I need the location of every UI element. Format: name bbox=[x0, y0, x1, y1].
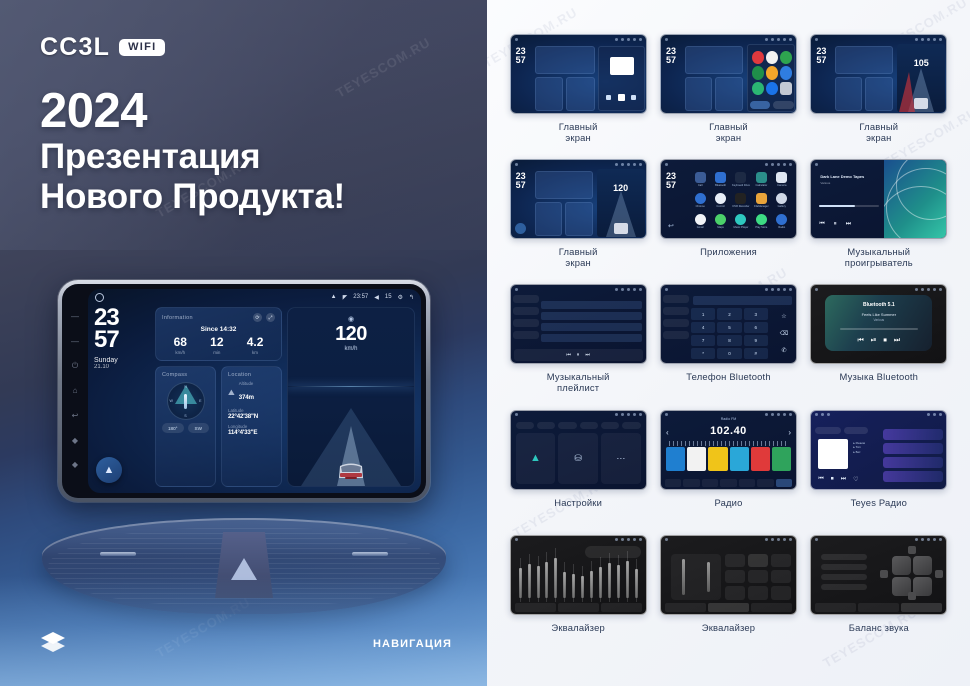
album-art bbox=[818, 439, 848, 469]
dial-input[interactable] bbox=[693, 296, 792, 305]
compass-card[interactable]: Compass N E S W bbox=[155, 366, 216, 487]
prev-icon[interactable]: ⏮ bbox=[857, 337, 863, 345]
status-bar: ▲ ◤ 23:57 ◀ 15 ⚙ ↰ bbox=[88, 289, 421, 305]
radio-frequency: 102.40 bbox=[661, 425, 796, 437]
eq-preset[interactable] bbox=[771, 554, 791, 567]
car-icon: ⛁ bbox=[574, 453, 582, 464]
head-unit-inner: — — ⏻ ⌂ ↩ ◆ ◆ ▲ ◤ 23:57 ◀ bbox=[62, 284, 426, 498]
car-3d-model bbox=[334, 452, 368, 482]
stat-unit: km bbox=[247, 350, 264, 355]
gallery-caption: Баланс звука bbox=[849, 622, 909, 633]
call-icon[interactable]: ✆ bbox=[781, 347, 786, 354]
compass-direction: SW bbox=[188, 423, 210, 433]
dashboard-vent bbox=[42, 518, 446, 614]
compass-n: N bbox=[184, 385, 187, 389]
status-time: 23:57 bbox=[353, 294, 368, 300]
screenshot-gallery-panel: TEYESCOM.RU TEYESCOM.RU TEYESCOM.RU TEYE… bbox=[487, 0, 970, 686]
mini-status-bar bbox=[511, 160, 646, 168]
app-item[interactable]: DVR Recorder bbox=[732, 193, 750, 212]
speed-widget[interactable]: ◉ 120 km/h bbox=[287, 307, 415, 487]
pause-icon[interactable]: ⏸ bbox=[577, 352, 580, 358]
latitude-label: Latitude bbox=[228, 408, 275, 413]
balance-up-button[interactable] bbox=[908, 546, 916, 554]
gallery-item[interactable]: Radio FM 102.40 ‹ › bbox=[653, 410, 803, 535]
mini-speed-value: 120 bbox=[597, 183, 645, 193]
preset[interactable] bbox=[730, 447, 749, 471]
gallery-caption: Главныйэкран bbox=[709, 121, 748, 143]
gallery-caption: Teyes Радио bbox=[851, 497, 907, 508]
app-item[interactable]: Gallery bbox=[773, 193, 791, 212]
star-icon[interactable]: ☆ bbox=[781, 313, 786, 320]
mini-status-bar bbox=[661, 285, 796, 293]
thumbnail-home-apps[interactable]: 23 57 bbox=[660, 34, 797, 114]
balance-left-button[interactable] bbox=[880, 570, 888, 578]
more-tile[interactable]: ⋯ bbox=[601, 433, 641, 484]
dial-key[interactable]: 1 bbox=[691, 308, 715, 319]
headline-line2: Нового Продукта! bbox=[40, 177, 345, 216]
app-item[interactable]: Maps bbox=[711, 214, 729, 233]
backspace-icon[interactable]: ⌫ bbox=[780, 330, 788, 337]
bluetooth-song: Feels Like Summer bbox=[862, 312, 896, 317]
next-icon[interactable]: ⏭ bbox=[846, 221, 851, 228]
compass-s: S bbox=[184, 414, 186, 418]
gallery-item[interactable]: Баланс звука bbox=[804, 535, 954, 660]
gallery-caption: Эквалайзер bbox=[551, 622, 604, 633]
app-item[interactable]: Keyboard Drive bbox=[732, 172, 750, 191]
latitude-value: 22°42'38"N bbox=[228, 413, 275, 420]
eq-preset[interactable] bbox=[748, 570, 768, 583]
dial-key[interactable]: * bbox=[691, 348, 715, 359]
altitude-value: 374m bbox=[239, 394, 254, 401]
preset[interactable] bbox=[687, 447, 706, 471]
eq-preset[interactable] bbox=[748, 554, 768, 567]
speed-unit: km/h bbox=[288, 346, 414, 352]
preset[interactable] bbox=[772, 447, 791, 471]
dial-key[interactable]: 7 bbox=[691, 335, 715, 346]
car-interior-stage: — — ⏻ ⌂ ↩ ◆ ◆ ▲ ◤ 23:57 ◀ bbox=[0, 240, 487, 686]
gallery-caption: Телефон Bluetooth bbox=[686, 371, 771, 382]
information-title: Information bbox=[162, 315, 193, 321]
thumbnail-home-media[interactable]: 23 57 bbox=[510, 34, 647, 114]
dialpad[interactable]: 123 456 789 *0# bbox=[691, 308, 768, 359]
gallery-caption: Главныйэкран bbox=[559, 121, 598, 143]
clock-widget: 23 57 Sunday 21.10 ▲ bbox=[94, 307, 150, 487]
wifi-tile[interactable]: ▲ bbox=[516, 433, 556, 484]
compass-title: Compass bbox=[162, 372, 209, 378]
eq-preset[interactable] bbox=[725, 586, 745, 599]
gallery-grid: 23 57 Главныйэкран 23 bbox=[487, 0, 970, 686]
eq-preset[interactable] bbox=[748, 586, 768, 599]
clock-date: 21.10 bbox=[94, 364, 150, 370]
gallery-item[interactable]: 23 57 Главныйэкран bbox=[503, 34, 653, 159]
head-unit-screen[interactable]: ▲ ◤ 23:57 ◀ 15 ⚙ ↰ 23 57 bbox=[88, 289, 421, 493]
gallery-item[interactable]: ⏮ ⏸ ⏭ Музыкальныйплейлист bbox=[503, 284, 653, 409]
power-key[interactable]: ⏻ bbox=[72, 362, 78, 370]
volume-down-key[interactable]: — bbox=[71, 313, 79, 321]
radio-presets[interactable] bbox=[666, 447, 791, 471]
layers-icon bbox=[40, 630, 66, 654]
music-visualizer bbox=[884, 160, 946, 238]
gallery-caption: Приложения bbox=[700, 246, 757, 257]
phone-sidebar[interactable] bbox=[663, 295, 689, 349]
settings-tabs[interactable] bbox=[516, 422, 641, 429]
eq-dual-sliders[interactable] bbox=[671, 554, 721, 600]
app-item[interactable]: Gmail bbox=[691, 214, 709, 233]
preset[interactable] bbox=[751, 447, 770, 471]
location-title: Location bbox=[228, 372, 275, 378]
next-icon[interactable]: ⏭ bbox=[585, 352, 590, 358]
hazard-triangle-icon bbox=[231, 558, 257, 580]
gallery-caption: Эквалайзер bbox=[702, 622, 755, 633]
mini-status-bar bbox=[511, 35, 646, 43]
balance-right-button[interactable] bbox=[935, 570, 943, 578]
headline-year: 2024 bbox=[40, 86, 345, 137]
gallery-caption: Настройки bbox=[554, 497, 602, 508]
gallery-caption: Главныйэкран bbox=[859, 121, 898, 143]
compass-w: W bbox=[170, 399, 173, 403]
navigation-label: НАВИГАЦИЯ bbox=[373, 638, 452, 650]
mini-status-bar bbox=[811, 536, 946, 544]
expand-icon[interactable]: ⤢ bbox=[266, 313, 275, 322]
thumbnail-bluetooth-music[interactable]: Bluetooth 5.1 Feels Like Summer Various … bbox=[810, 284, 947, 364]
gallery-item[interactable]: Dark Lane Demo Tapes Various ⏮ ⏸ ⏭ Музык… bbox=[804, 159, 954, 284]
volume-icon: ◀ bbox=[374, 294, 379, 301]
playlist-sidebar[interactable] bbox=[513, 295, 539, 349]
gear-icon[interactable]: ⚙ bbox=[398, 294, 403, 301]
thumbnail-music-player[interactable]: Dark Lane Demo Tapes Various ⏮ ⏸ ⏭ bbox=[810, 159, 947, 239]
thumbnail-home-speed-105[interactable]: 23 57 105 bbox=[810, 34, 947, 114]
thumbnail-radio[interactable]: Radio FM 102.40 ‹ › bbox=[660, 410, 797, 490]
progress-bar[interactable] bbox=[819, 205, 879, 207]
stat-item: 12 min bbox=[210, 336, 223, 355]
heart-icon[interactable]: ♡ bbox=[853, 476, 858, 483]
app-item[interactable]: Bluetooth bbox=[711, 172, 729, 191]
app-item[interactable]: Calculator bbox=[752, 172, 770, 191]
eq-tab-bar[interactable] bbox=[815, 603, 942, 612]
headline-line1: Презентация bbox=[40, 137, 345, 176]
stat-unit: km/h bbox=[174, 350, 187, 355]
track-meta-row: ▸ Бит bbox=[853, 450, 865, 455]
radio-band-label: Radio FM bbox=[661, 417, 796, 421]
teyes-controls[interactable]: ⏮ ⏹ ⏭ ♡ bbox=[818, 476, 858, 483]
thumbnail-equalizer-bars[interactable] bbox=[510, 535, 647, 615]
mini-clock-minutes: 57 bbox=[516, 181, 526, 189]
prev-icon[interactable]: ⏮ bbox=[566, 352, 571, 358]
app-item[interactable]: Radio bbox=[773, 214, 791, 233]
thumbnail-settings[interactable]: ▲ ⛁ ⋯ bbox=[510, 410, 647, 490]
dial-key[interactable]: 0 bbox=[717, 348, 741, 359]
app-item[interactable]: Camera bbox=[773, 172, 791, 191]
navigation-arrow-icon[interactable]: ▲ bbox=[96, 457, 122, 483]
dial-key[interactable]: 4 bbox=[691, 322, 715, 333]
equalizer-sliders[interactable] bbox=[519, 554, 638, 598]
thumbnail-bluetooth-phone[interactable]: 123 456 789 *0# ☆ ⌫ ✆ bbox=[660, 284, 797, 364]
bluetooth-card: Bluetooth 5.1 Feels Like Summer Various … bbox=[825, 295, 932, 351]
prev-icon[interactable]: ⏮ bbox=[819, 221, 824, 228]
clock-minutes: 57 bbox=[94, 329, 150, 351]
mini-status-bar bbox=[661, 536, 796, 544]
app-grid[interactable]: Call Bluetooth Keyboard Drive Calculator… bbox=[689, 170, 793, 235]
gallery-item[interactable]: Эквалайзер bbox=[653, 535, 803, 660]
carplay-tile[interactable]: ⛁ bbox=[558, 433, 598, 484]
balance-down-button[interactable] bbox=[908, 592, 916, 600]
app-item[interactable]: Play Store bbox=[752, 214, 770, 233]
mini-status-bar bbox=[811, 411, 946, 419]
thumbnail-playlist[interactable]: ⏮ ⏸ ⏭ bbox=[510, 284, 647, 364]
stop-icon[interactable]: ⏹ bbox=[831, 476, 834, 483]
settings-tiles[interactable]: ▲ ⛁ ⋯ bbox=[516, 433, 641, 484]
stop-icon[interactable]: ⏹ bbox=[883, 337, 887, 345]
pause-icon[interactable]: ⏸ bbox=[834, 221, 837, 228]
preset[interactable] bbox=[666, 447, 685, 471]
gallery-item[interactable]: ▸ Режим ▸ Тип ▸ Бит ⏮ ⏹ ⏭ ♡ Teyes Радио bbox=[804, 410, 954, 535]
progress-bar[interactable] bbox=[840, 328, 918, 330]
player-controls[interactable]: ⏮ ⏸ ⏭ bbox=[819, 221, 851, 228]
refresh-icon[interactable]: ⟳ bbox=[253, 313, 262, 322]
dial-key[interactable]: 2 bbox=[717, 308, 741, 319]
player-song-title: Dark Lane Demo Tapes bbox=[820, 174, 864, 179]
prev-icon[interactable]: ⏮ bbox=[818, 476, 823, 483]
altitude-label: Altitude bbox=[239, 381, 254, 386]
back-key[interactable]: ↩ bbox=[72, 412, 79, 420]
horizon-line bbox=[288, 386, 414, 387]
dial-key[interactable]: 3 bbox=[744, 308, 768, 319]
head-unit-bezel: — — ⏻ ⌂ ↩ ◆ ◆ ▲ ◤ 23:57 ◀ bbox=[58, 280, 430, 502]
balance-options[interactable] bbox=[821, 554, 867, 594]
gallery-item[interactable]: Bluetooth 5.1 Feels Like Summer Various … bbox=[804, 284, 954, 409]
thumbnail-home-speed-120[interactable]: 23 57 120 bbox=[510, 159, 647, 239]
vent-notch-left bbox=[100, 552, 136, 556]
mountain-icon: ⛰ bbox=[228, 388, 235, 398]
gallery-item[interactable]: 23 57 105 Главныйэкран bbox=[804, 34, 954, 159]
gallery-caption: Главныйэкран bbox=[559, 246, 598, 268]
gallery-caption: Музыка Bluetooth bbox=[840, 371, 919, 382]
bluetooth-controls[interactable]: ⏮ ⏯ ⏹ ⏭ bbox=[857, 337, 900, 345]
home-key[interactable]: ⌂ bbox=[73, 387, 78, 395]
mini-clock-minutes: 57 bbox=[666, 181, 676, 189]
wifi-icon: ▲ bbox=[530, 452, 541, 464]
dial-key[interactable]: 8 bbox=[717, 335, 741, 346]
eq-preset[interactable] bbox=[771, 570, 791, 583]
volume-up-key[interactable]: — bbox=[71, 338, 79, 346]
app-item[interactable]: Call bbox=[691, 172, 709, 191]
mini-clock-minutes: 57 bbox=[816, 56, 826, 64]
compass-needle bbox=[184, 394, 187, 409]
mini-status-bar bbox=[811, 35, 946, 43]
eq-preset-grid[interactable] bbox=[725, 554, 791, 600]
watermark: TEYESCOM.RU bbox=[333, 34, 433, 100]
eq-preset[interactable] bbox=[771, 586, 791, 599]
stat-item: 4.2 km bbox=[247, 336, 264, 355]
back-arrow-icon[interactable]: ↰ bbox=[409, 294, 414, 301]
gallery-caption: Музыкальныйплейлист bbox=[547, 371, 610, 393]
compass-rose: N E S W bbox=[167, 382, 205, 420]
dial-key[interactable]: # bbox=[744, 348, 768, 359]
volume-level: 15 bbox=[385, 294, 392, 300]
mini-status-bar bbox=[511, 411, 646, 419]
clock-day: Sunday bbox=[94, 357, 150, 364]
dial-key[interactable]: 6 bbox=[744, 322, 768, 333]
gallery-item[interactable]: Эквалайзер bbox=[503, 535, 653, 660]
playlist-player-bar[interactable]: ⏮ ⏸ ⏭ bbox=[514, 349, 643, 361]
app-item[interactable]: Chrome bbox=[691, 193, 709, 212]
eq-tab-bar[interactable] bbox=[515, 603, 642, 612]
next-station-button[interactable]: › bbox=[788, 428, 791, 437]
stat-value: 68 bbox=[174, 336, 187, 348]
play-pause-icon[interactable]: ⏯ bbox=[871, 337, 877, 345]
bluetooth-artist: Various bbox=[874, 318, 885, 322]
headline-block: 2024 Презентация Нового Продукта! bbox=[40, 86, 345, 216]
gallery-item[interactable]: 23 57 Главныйэкран bbox=[653, 34, 803, 159]
mini-status-bar bbox=[661, 160, 796, 168]
gallery-item[interactable]: 23 57 Call Bluetooth Keyboard Drive Calc… bbox=[653, 159, 803, 284]
gallery-caption: Радио bbox=[714, 497, 742, 508]
thumbnail-sound-balance[interactable] bbox=[810, 535, 947, 615]
app-item[interactable]: Music Player bbox=[732, 214, 750, 233]
thumbnail-apps[interactable]: 23 57 Call Bluetooth Keyboard Drive Calc… bbox=[660, 159, 797, 239]
gallery-item[interactable]: 23 57 120 Главныйэкран bbox=[503, 159, 653, 284]
app-item[interactable]: FileManager bbox=[752, 193, 770, 212]
mini-status-bar bbox=[511, 285, 646, 293]
prev-station-button[interactable]: ‹ bbox=[666, 428, 669, 437]
compass-e: E bbox=[199, 399, 201, 403]
frequency-scale[interactable] bbox=[669, 441, 788, 446]
stat-value: 4.2 bbox=[247, 336, 264, 348]
hazard-button[interactable] bbox=[215, 532, 273, 598]
eq-tab-bar[interactable] bbox=[665, 603, 792, 612]
preset[interactable] bbox=[708, 447, 727, 471]
logo-text: CC3L bbox=[40, 33, 110, 62]
back-arrow-icon[interactable]: ↩ bbox=[668, 222, 674, 230]
dial-key[interactable]: 5 bbox=[717, 322, 741, 333]
mini-clock-minutes: 57 bbox=[666, 56, 676, 64]
dial-key[interactable]: 9 bbox=[744, 335, 768, 346]
thumbnail-equalizer-simple[interactable] bbox=[660, 535, 797, 615]
mute-key[interactable]: ◆ bbox=[72, 461, 78, 469]
eq-preset[interactable] bbox=[725, 554, 745, 567]
teyes-station-list[interactable] bbox=[883, 429, 943, 485]
app-item[interactable]: Control bbox=[711, 193, 729, 212]
wifi-badge: WIFI bbox=[119, 39, 164, 56]
promo-panel: TEYESCOM.RU TEYESCOM.RU TEYESCOM.RU CC3L… bbox=[0, 0, 487, 686]
gallery-caption: Музыкальныйпроигрыватель bbox=[845, 246, 913, 268]
next-icon[interactable]: ⏭ bbox=[841, 476, 846, 483]
location-card[interactable]: Location ⛰ Altitude 374m bbox=[221, 366, 282, 487]
mini-speed-value: 105 bbox=[897, 58, 945, 68]
stat-item: 68 km/h bbox=[174, 336, 187, 355]
wifi-icon-2: ◤ bbox=[343, 294, 348, 301]
thumbnail-teyes-radio[interactable]: ▸ Режим ▸ Тип ▸ Бит ⏮ ⏹ ⏭ ♡ bbox=[810, 410, 947, 490]
stat-unit: min bbox=[210, 350, 223, 355]
product-logo: CC3L WIFI bbox=[40, 33, 165, 62]
information-card[interactable]: Information ⟳ ⤢ Since 14:32 68 bbox=[155, 307, 282, 361]
eq-preset[interactable] bbox=[725, 570, 745, 583]
gallery-item[interactable]: 123 456 789 *0# ☆ ⌫ ✆ Телефон Bluetooth bbox=[653, 284, 803, 409]
radio-toolbar[interactable] bbox=[665, 479, 792, 487]
speed-icon: ◉ bbox=[348, 315, 354, 323]
bluetooth-title: Bluetooth 5.1 bbox=[863, 302, 895, 308]
gallery-item[interactable]: ▲ ⛁ ⋯ Настройки bbox=[503, 410, 653, 535]
speaker-grid[interactable] bbox=[892, 556, 932, 596]
mini-clock-minutes: 57 bbox=[516, 56, 526, 64]
playlist-rows[interactable] bbox=[541, 301, 642, 347]
longitude-value: 114°4'33"E bbox=[228, 429, 275, 436]
speed-value: 120 bbox=[288, 324, 414, 344]
since-label: Since 14:32 bbox=[162, 326, 275, 333]
head-unit-side-keys[interactable]: — — ⏻ ⌂ ↩ ◆ ◆ bbox=[62, 284, 88, 498]
more-icon: ⋯ bbox=[616, 453, 625, 464]
mic-key[interactable]: ◆ bbox=[72, 437, 78, 445]
stat-value: 12 bbox=[210, 336, 223, 348]
wifi-icon: ▲ bbox=[331, 294, 337, 300]
mini-status-bar bbox=[661, 35, 796, 43]
mini-status-bar bbox=[811, 285, 946, 293]
eq-preset-selector[interactable] bbox=[585, 546, 641, 558]
mini-status-bar bbox=[511, 536, 646, 544]
compass-heading: 180° bbox=[162, 423, 184, 433]
home-icon[interactable] bbox=[95, 293, 104, 302]
next-icon[interactable]: ⏭ bbox=[894, 337, 900, 345]
vent-notch-right bbox=[352, 552, 388, 556]
longitude-label: Longitude bbox=[228, 424, 275, 429]
player-artist: Various bbox=[820, 181, 830, 185]
